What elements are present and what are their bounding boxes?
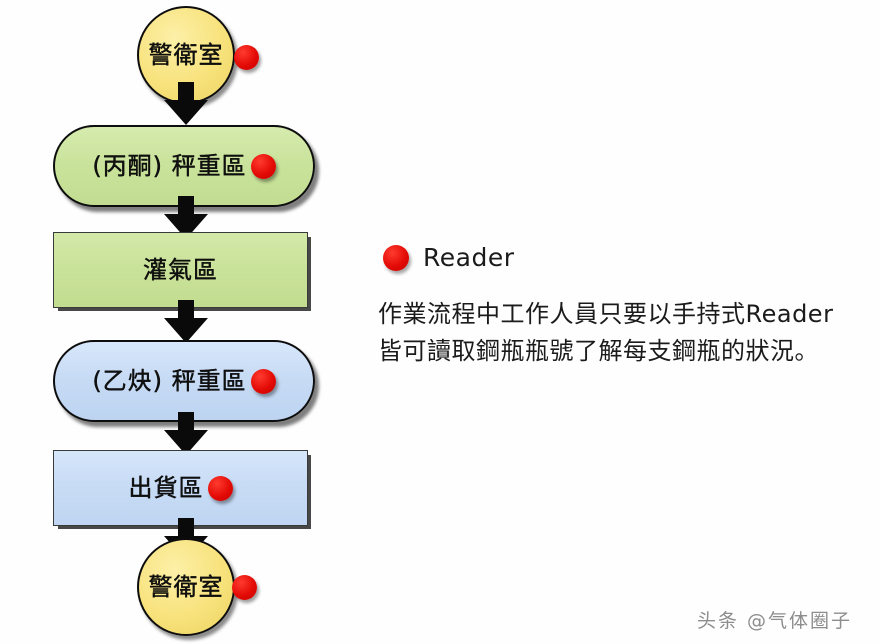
flow-node-label: (丙酮) 秤重區	[92, 154, 246, 178]
legend: Reader	[383, 243, 514, 272]
description-line-2: 皆可讀取鋼瓶瓶號了解每支鋼瓶的狀況。	[378, 334, 819, 368]
flow-arrow-3	[160, 300, 212, 344]
reader-dot-guard-room-end	[232, 575, 257, 600]
reader-legend-dot	[383, 245, 409, 271]
flow-node-shipping-area[interactable]: 出貨區	[53, 450, 308, 526]
reader-dot-guard-room-start	[234, 45, 259, 70]
flow-arrow-1	[160, 82, 212, 126]
reader-dot-acetylene-weighing	[251, 369, 276, 394]
diagram-canvas: 警衛室 (丙酮) 秤重區 灌氣區	[0, 0, 880, 644]
legend-label: Reader	[423, 243, 514, 272]
reader-dot-shipping-area	[208, 476, 233, 501]
flow-node-gas-filling[interactable]: 灌氣區	[53, 232, 308, 308]
flow-node-acetone-weighing[interactable]: (丙酮) 秤重區	[53, 125, 315, 207]
process-flow-column: 警衛室 (丙酮) 秤重區 灌氣區	[0, 0, 360, 644]
flow-node-label: 灌氣區	[143, 258, 218, 282]
flow-node-label: 警衛室	[149, 43, 224, 67]
flow-node-label: 警衛室	[149, 575, 224, 599]
description-line-1: 作業流程中工作人員只要以手持式Reader	[378, 297, 833, 331]
reader-dot-acetone-weighing	[251, 154, 276, 179]
flow-node-guard-room-end[interactable]: 警衛室	[137, 538, 235, 636]
watermark: 头条 @气体圈子	[697, 606, 852, 633]
flow-node-label: 出貨區	[129, 476, 204, 500]
flow-node-label: (乙炔) 秤重區	[92, 369, 246, 393]
flow-node-acetylene-weighing[interactable]: (乙炔) 秤重區	[53, 340, 315, 422]
